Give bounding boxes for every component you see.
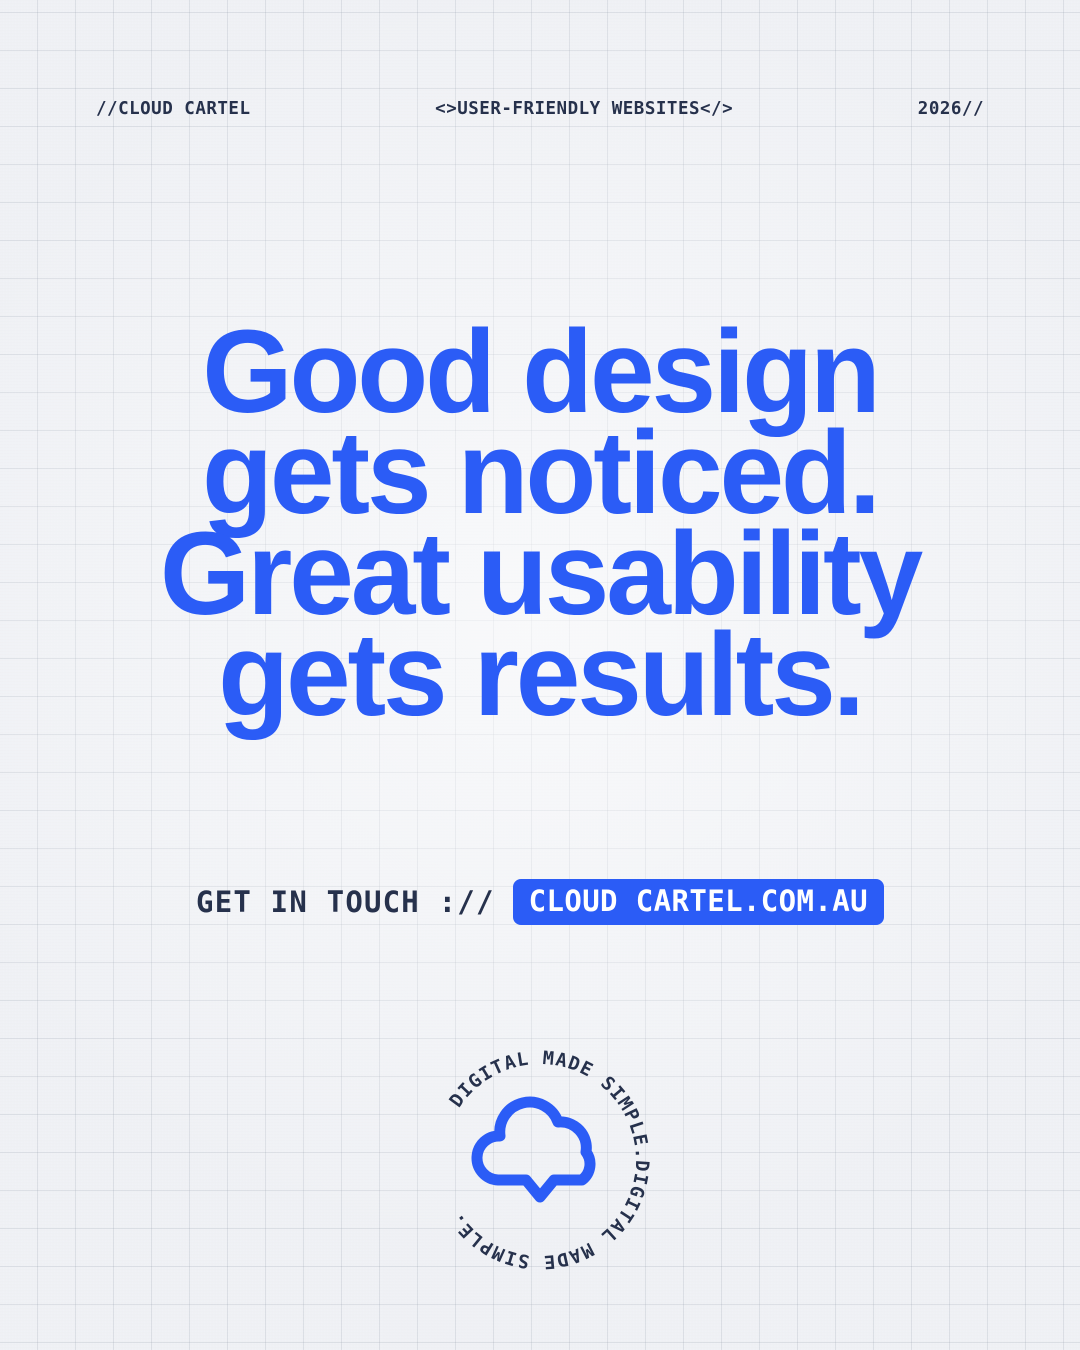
contact-cta-row: GET IN TOUCH :// CLOUD CARTEL.COM.AU [0,879,1080,925]
cloud-speech-bubble-icon [477,1102,590,1197]
page-title: Good design gets noticed. Great usabilit… [8,322,1072,726]
header-year-tag: 2026// [918,99,984,119]
header-topic-tag: <>USER-FRIENDLY WEBSITES</> [251,99,918,119]
header-bar: //CLOUD CARTEL <>USER-FRIENDLY WEBSITES<… [96,96,984,122]
brand-tag: //CLOUD CARTEL [96,99,251,119]
circular-brand-badge: DIGITAL MADE SIMPLE.DIGITAL MADE SIMPLE. [420,1040,660,1280]
poster-canvas: //CLOUD CARTEL <>USER-FRIENDLY WEBSITES<… [0,0,1080,1350]
headline-line-4: gets results. [8,625,1072,726]
website-url-button[interactable]: CLOUD CARTEL.COM.AU [513,879,884,925]
get-in-touch-label: GET IN TOUCH :// [196,885,495,919]
